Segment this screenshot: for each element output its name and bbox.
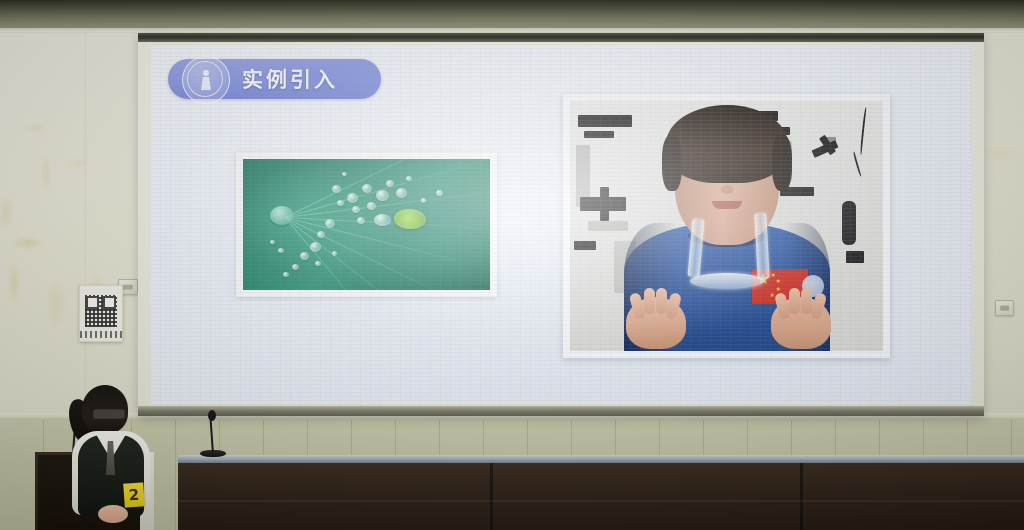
astronaut-hair xyxy=(666,105,788,183)
qr-code-icon xyxy=(85,295,117,327)
astronaut-hand-left xyxy=(626,297,686,349)
astronaut-hand-right xyxy=(771,297,831,349)
university-emblem-icon xyxy=(182,56,230,104)
slide-title-text: 实例引入 xyxy=(242,64,338,94)
presenter-hands xyxy=(98,505,128,523)
classroom-scene: 实例引入 xyxy=(0,0,1024,530)
switch-rocker-icon xyxy=(123,285,133,290)
green-debris-patch xyxy=(394,209,426,229)
outlet-socket-icon xyxy=(1000,306,1010,311)
screen-top-rail xyxy=(138,33,984,42)
desk-panel-seam xyxy=(800,463,803,530)
qr-code-poster[interactable] xyxy=(79,285,123,342)
microphone-capsule-icon xyxy=(208,410,216,421)
slide-title-banner: 实例引入 xyxy=(168,59,381,99)
desk-panel-seam xyxy=(490,463,493,530)
desk-lower-edge xyxy=(178,500,1024,502)
water-bridge-film xyxy=(690,273,764,289)
lecture-desk-body xyxy=(178,463,1024,530)
astronaut-photo: ★★ ★★ ★ xyxy=(570,101,883,351)
ceiling xyxy=(0,0,1024,30)
slide-image-astronaut[interactable]: ★★ ★★ ★ xyxy=(563,94,890,358)
slide-image-lotus-leaf[interactable] xyxy=(236,152,497,297)
qr-poster-caption-strip xyxy=(80,331,122,338)
presenter-number-badge: 2 xyxy=(123,482,145,507)
student-presenter: 2 xyxy=(62,385,158,530)
projected-slide[interactable]: 实例引入 xyxy=(151,46,971,404)
screen-bottom-rail xyxy=(138,406,984,416)
lotus-leaf-photo xyxy=(243,159,490,290)
wall-outlet-plate-right[interactable] xyxy=(995,300,1014,316)
presenter-glasses xyxy=(93,409,125,419)
